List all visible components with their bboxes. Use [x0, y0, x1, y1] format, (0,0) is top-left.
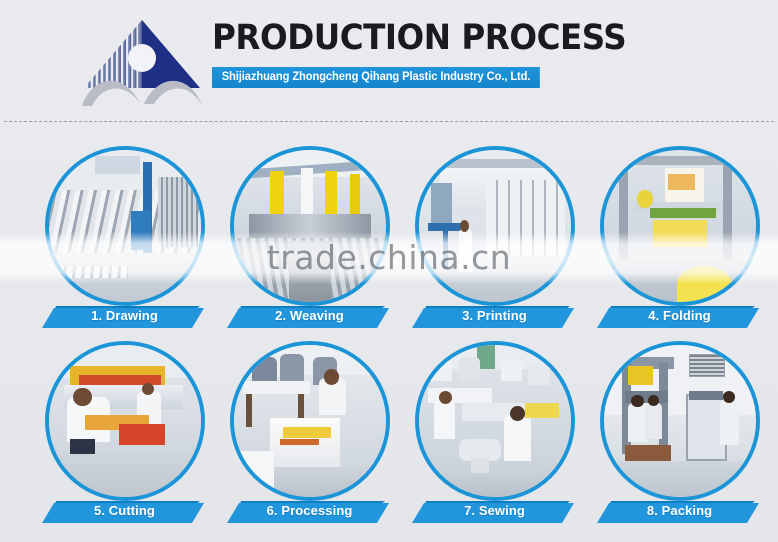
header: PRODUCTION PROCESS Shijiazhuang Zhongche… — [0, 0, 778, 122]
company-name-bar: Shijiazhuang Zhongcheng Qihang Plastic I… — [212, 67, 540, 88]
process-step-2[interactable]: 2. Weaving — [217, 146, 402, 346]
photo-weaving — [234, 150, 386, 302]
step-label-text: 4. Folding — [587, 304, 772, 328]
step-label-banner: 2. Weaving — [217, 304, 402, 330]
photo-cutting — [49, 345, 201, 497]
process-step-3[interactable]: 3. Printing — [402, 146, 587, 346]
step-photo-circle — [415, 341, 575, 501]
photo-printing — [419, 150, 571, 302]
step-photo-circle — [415, 146, 575, 306]
step-photo-circle — [45, 146, 205, 306]
step-label-text: 1. Drawing — [32, 304, 217, 328]
step-label-banner: 7. Sewing — [402, 499, 587, 525]
step-label-text: 6. Processing — [217, 499, 402, 523]
step-photo-circle — [45, 341, 205, 501]
photo-packing — [604, 345, 756, 497]
company-logo — [78, 14, 206, 110]
process-step-8[interactable]: 8. Packing — [587, 341, 772, 541]
step-label-banner: 1. Drawing — [32, 304, 217, 330]
photo-sewing — [419, 345, 571, 497]
step-label-banner: 8. Packing — [587, 499, 772, 525]
step-label-text: 5. Cutting — [32, 499, 217, 523]
process-step-4[interactable]: 4. Folding — [587, 146, 772, 346]
step-label-banner: 5. Cutting — [32, 499, 217, 525]
triangle-mountain-logo-icon — [78, 14, 206, 110]
step-label-text: 7. Sewing — [402, 499, 587, 523]
process-steps-grid: 1. Drawing — [0, 128, 778, 542]
step-label-banner: 4. Folding — [587, 304, 772, 330]
production-process-banner: PRODUCTION PROCESS Shijiazhuang Zhongche… — [0, 0, 778, 542]
title-block: PRODUCTION PROCESS Shijiazhuang Zhongche… — [212, 16, 752, 88]
step-photo-circle — [230, 341, 390, 501]
photo-drawing — [49, 150, 201, 302]
page-title: PRODUCTION PROCESS — [212, 16, 714, 60]
header-divider — [4, 121, 774, 122]
process-step-5[interactable]: 5. Cutting — [32, 341, 217, 541]
step-photo-circle — [600, 146, 760, 306]
step-label-banner: 6. Processing — [217, 499, 402, 525]
photo-processing — [234, 345, 386, 497]
step-label-text: 2. Weaving — [217, 304, 402, 328]
step-label-text: 3. Printing — [402, 304, 587, 328]
process-step-6[interactable]: 6. Processing — [217, 341, 402, 541]
process-step-1[interactable]: 1. Drawing — [32, 146, 217, 346]
step-photo-circle — [600, 341, 760, 501]
step-photo-circle — [230, 146, 390, 306]
step-label-banner: 3. Printing — [402, 304, 587, 330]
photo-folding — [604, 150, 756, 302]
step-label-text: 8. Packing — [587, 499, 772, 523]
process-step-7[interactable]: 7. Sewing — [402, 341, 587, 541]
